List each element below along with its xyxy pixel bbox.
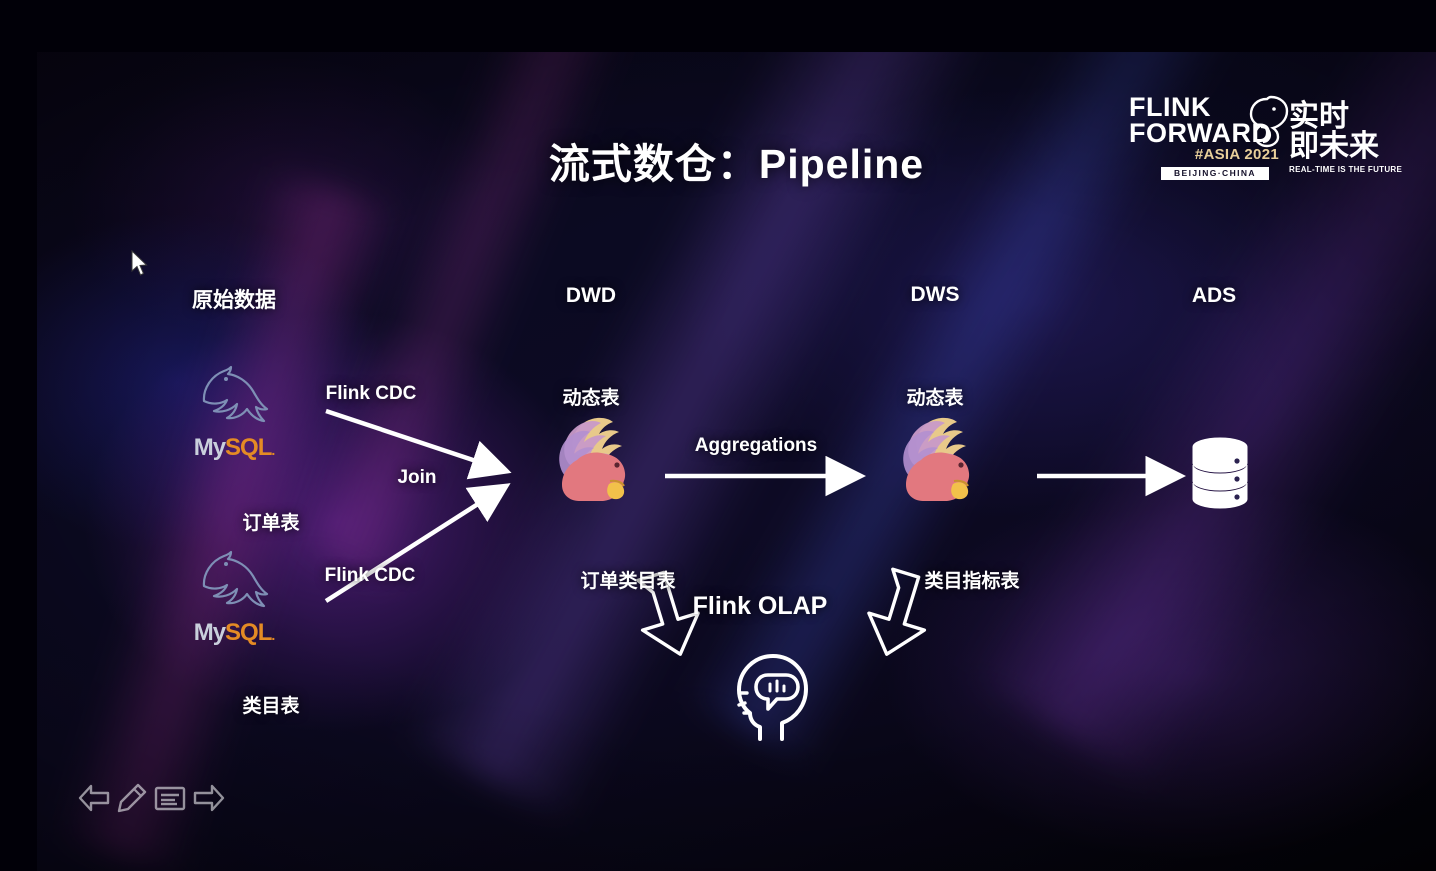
edge-label-cdc-categories: Flink CDC <box>325 565 416 587</box>
dws-node-top-label: 动态表 <box>906 383 963 410</box>
flink-squirrel-icon <box>891 408 981 512</box>
edge-label-cdc-orders: Flink CDC <box>326 383 417 405</box>
previous-slide-button[interactable] <box>77 783 111 818</box>
pencil-icon[interactable] <box>116 782 148 819</box>
presentation-toolbar[interactable] <box>77 782 226 819</box>
head-brain-analytics-icon <box>730 647 818 742</box>
database-icon <box>1187 434 1253 514</box>
edge-cdc-orders <box>326 411 503 470</box>
dws-node-caption: 类目指标表 <box>924 566 1019 593</box>
dwd-node-caption: 订单类目表 <box>580 566 675 593</box>
edge-label-aggregations: Aggregations <box>695 435 817 457</box>
next-slide-button[interactable] <box>192 783 226 818</box>
olap-label: Flink OLAP <box>693 592 828 621</box>
menu-box-icon[interactable] <box>153 783 187 818</box>
flink-squirrel-icon <box>547 408 637 512</box>
slide-canvas: 流式数仓：Pipeline FLINK FORWARD #ASIA 2021 B… <box>37 52 1436 871</box>
mouse-cursor <box>130 250 150 283</box>
dwd-node-top-label: 动态表 <box>562 383 619 410</box>
edge-label-join: Join <box>397 467 436 489</box>
presentation-screen: 流式数仓：Pipeline FLINK FORWARD #ASIA 2021 B… <box>0 0 1436 871</box>
